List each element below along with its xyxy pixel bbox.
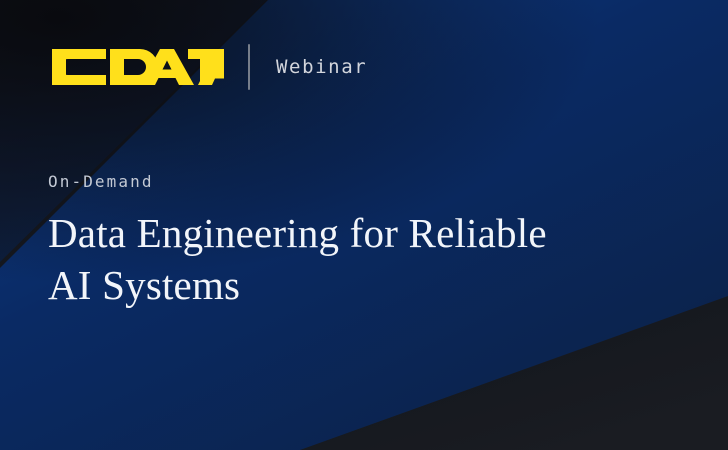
- title-line-2: AI Systems: [48, 262, 240, 308]
- header-kicker-label: Webinar: [276, 56, 367, 78]
- availability-eyebrow: On-Demand: [48, 172, 668, 191]
- header-divider-icon: [248, 44, 250, 90]
- title-line-1: Data Engineering for Reliable: [48, 210, 547, 256]
- cdata-logo-icon[interactable]: [48, 45, 224, 89]
- card-content: On-Demand Data Engineering for Reliable …: [48, 172, 668, 311]
- webinar-title: Data Engineering for Reliable AI Systems: [48, 207, 648, 311]
- dark-corner-triangle: [300, 296, 728, 450]
- card-header: Webinar: [48, 42, 367, 92]
- webinar-card: Webinar On-Demand Data Engineering for R…: [0, 0, 728, 450]
